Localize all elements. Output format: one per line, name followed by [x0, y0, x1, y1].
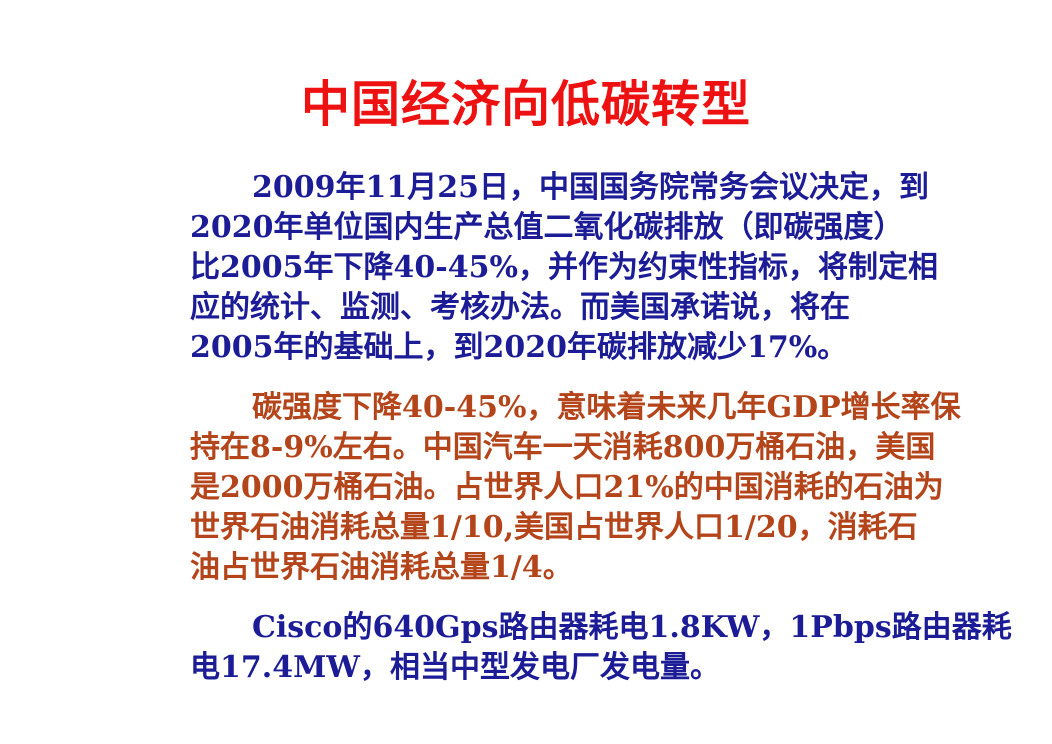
slide-body-text: 2009年11月25日，中国国务院常务会议决定，到 2020年单位国内生产总值二…	[190, 168, 902, 688]
paragraph-line: Cisco的640Gps路由器耗电1.8KW，1Pbps路由器耗	[190, 608, 902, 648]
paragraph-line: 比2005年下降40-45%，并作为约束性指标，将制定相	[190, 248, 902, 288]
slide-title: 中国经济向低碳转型	[0, 76, 1052, 134]
paragraph-line: 2005年的基础上，到2020年碳排放减少17%。	[190, 328, 902, 368]
paragraph-line: 2009年11月25日，中国国务院常务会议决定，到	[190, 168, 902, 208]
paragraph-line: 电17.4MW，相当中型发电厂发电量。	[190, 648, 902, 688]
paragraph-line: 世界石油消耗总量1/10,美国占世界人口1/20，消耗石	[190, 508, 902, 548]
paragraph-line: 碳强度下降40-45%，意味着未来几年GDP增长率保	[190, 388, 902, 428]
paragraph-line: 是2000万桶石油。占世界人口21%的中国消耗的石油为	[190, 468, 902, 508]
paragraph-line: 应的统计、监测、考核办法。而美国承诺说，将在	[190, 288, 902, 328]
paragraph-line: 油占世界石油消耗总量1/4。	[190, 548, 902, 588]
paragraph-line: 2020年单位国内生产总值二氧化碳排放（即碳强度）	[190, 208, 902, 248]
presentation-slide: 中国经济向低碳转型 2009年11月25日，中国国务院常务会议决定，到 2020…	[0, 0, 1052, 744]
paragraph-oil-consumption: 碳强度下降40-45%，意味着未来几年GDP增长率保 持在8-9%左右。中国汽车…	[190, 388, 902, 588]
paragraph-cisco-router-power: Cisco的640Gps路由器耗电1.8KW，1Pbps路由器耗 电17.4MW…	[190, 608, 902, 688]
paragraph-line: 持在8-9%左右。中国汽车一天消耗800万桶石油，美国	[190, 428, 902, 468]
paragraph-carbon-intensity-decision: 2009年11月25日，中国国务院常务会议决定，到 2020年单位国内生产总值二…	[190, 168, 902, 368]
